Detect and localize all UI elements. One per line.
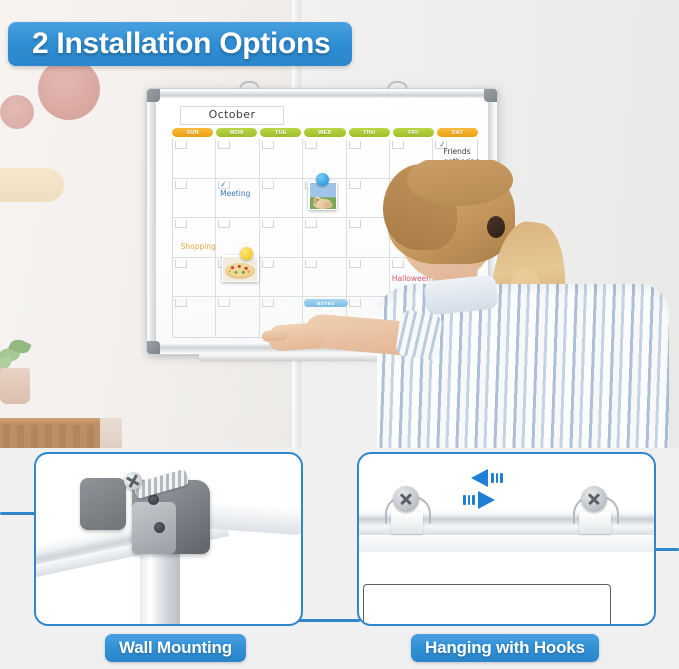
corner-bracket-top-left [147,89,160,102]
month-title-box[interactable]: October [180,106,284,125]
caption-wall-mounting-label: Wall Mounting [119,638,232,658]
room-scene: October SUN MON TUE WED THU FRI SAT [0,0,679,448]
hook-right [573,488,615,522]
calendar-cell[interactable] [303,258,346,298]
day-header-wed: WED [304,128,345,137]
calendar-cell[interactable] [216,297,259,337]
hair-tie [487,216,505,238]
shirt-cuff [395,309,443,360]
bracket-hole-lower [154,522,165,533]
calendar-cell[interactable] [260,139,303,179]
day-header-sat: SAT [437,128,478,137]
calendar-cell[interactable] [173,218,216,258]
board-inner-outline [363,584,611,626]
board-edge-panel [357,536,656,553]
notes-section-label: NOTES [304,299,348,307]
hook-left [385,488,427,522]
wall-art-bar [0,168,64,202]
calendar-cell[interactable] [303,218,346,258]
person [377,160,679,448]
panel-wall-mounting [34,452,303,626]
calendar-cell[interactable] [173,297,216,337]
day-header-thu: THU [349,128,390,137]
frame-top [147,89,497,98]
day-header-sun: SUN [172,128,213,137]
month-label: October [181,108,283,121]
hook-plate [579,512,611,534]
calendar-cell[interactable] [173,258,216,298]
arrow-left-icon [471,472,503,484]
calendar-cell[interactable] [216,139,259,179]
connector-middle [298,619,360,622]
header-title: 2 Installation Options [32,27,330,61]
food-photo[interactable] [222,255,259,282]
corner-bracket-top-right [484,89,497,102]
day-header-mon: MON [216,128,257,137]
note-friends: Friends [444,147,471,156]
screw-head [581,486,607,512]
calendar-cell[interactable] [173,139,216,179]
screw-head [393,486,419,512]
arrow-right-icon [463,494,495,506]
checkmark-icon: ✓ [220,180,228,190]
calendar-cell[interactable] [260,179,303,219]
calendar-cell[interactable] [216,218,259,258]
wall-art-circle-small [0,95,34,129]
food-photo-image [223,257,257,281]
wall-plate [80,478,126,530]
plant-pot [0,368,30,404]
corner-bracket-bottom-left [147,341,160,354]
panel-hanging-with-hooks [357,452,656,626]
pen-tray[interactable] [199,354,379,360]
bracket-hole-upper [148,494,159,505]
note-meeting: Meeting [220,189,250,198]
note-shopping: Shopping [181,242,216,251]
frame-left [147,89,156,354]
yellow-magnet[interactable] [240,247,253,260]
striped-shirt [377,284,669,448]
header-banner: 2 Installation Options [8,22,352,66]
cabinet-body [0,424,108,448]
wall-art-circle-large [38,58,100,120]
connector-left [0,512,36,515]
calendar-cell[interactable] [260,218,303,258]
day-header-row: SUN MON TUE WED THU FRI SAT [172,128,478,137]
caption-wall-mounting: Wall Mounting [105,634,246,662]
cabinet-top [0,418,112,425]
dog-photo-image [310,183,336,209]
calendar-cell[interactable] [260,258,303,298]
day-header-tue: TUE [260,128,301,137]
caption-hanging-with-hooks-label: Hanging with Hooks [425,638,585,658]
hook-plate [391,512,423,534]
blue-magnet[interactable] [316,173,329,186]
mount-post [140,546,180,626]
caption-hanging-with-hooks: Hanging with Hooks [411,634,599,662]
calendar-cell[interactable] [173,179,216,219]
cabinet-side-panel [100,418,122,448]
day-header-fri: FRI [393,128,434,137]
